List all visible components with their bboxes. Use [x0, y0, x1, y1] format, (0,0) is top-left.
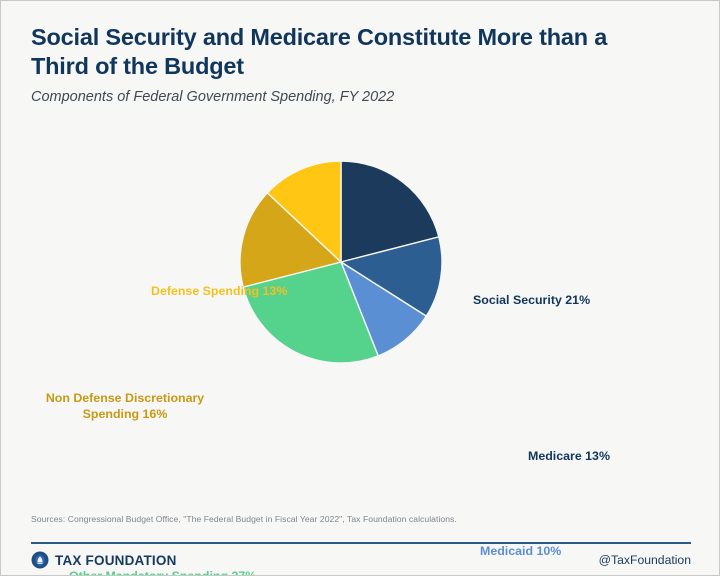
footer-bar: TAX FOUNDATION @TaxFoundation [31, 551, 691, 575]
pie-slice-group [240, 161, 442, 363]
brand-lockup: TAX FOUNDATION [31, 551, 177, 569]
pie-label-social-security: Social Security 21% [473, 293, 590, 309]
tax-foundation-seal-icon [31, 551, 49, 569]
pie-label-medicare: Medicare 13% [528, 449, 610, 465]
chart-header: Social Security and Medicare Constitute … [31, 23, 651, 107]
source-note: Sources: Congressional Budget Office, "T… [31, 514, 457, 524]
page-title: Social Security and Medicare Constitute … [31, 23, 651, 80]
pie-chart [240, 161, 442, 363]
footer-divider [31, 542, 691, 544]
brand-name: TAX FOUNDATION [55, 553, 177, 568]
chart-figure: Social Security and Medicare Constitute … [0, 0, 720, 576]
social-handle: @TaxFoundation [599, 553, 691, 567]
pie-label-non-defense-discretionary-spending: Non Defense DiscretionarySpending 16% [34, 391, 216, 423]
chart-subtitle: Components of Federal Government Spendin… [31, 89, 651, 106]
pie-chart-svg [240, 161, 442, 363]
chart-plot-area: Social Security 21% Medicare 13% Medicai… [1, 119, 719, 501]
pie-label-defense-spending: Defense Spending 13% [151, 284, 287, 300]
